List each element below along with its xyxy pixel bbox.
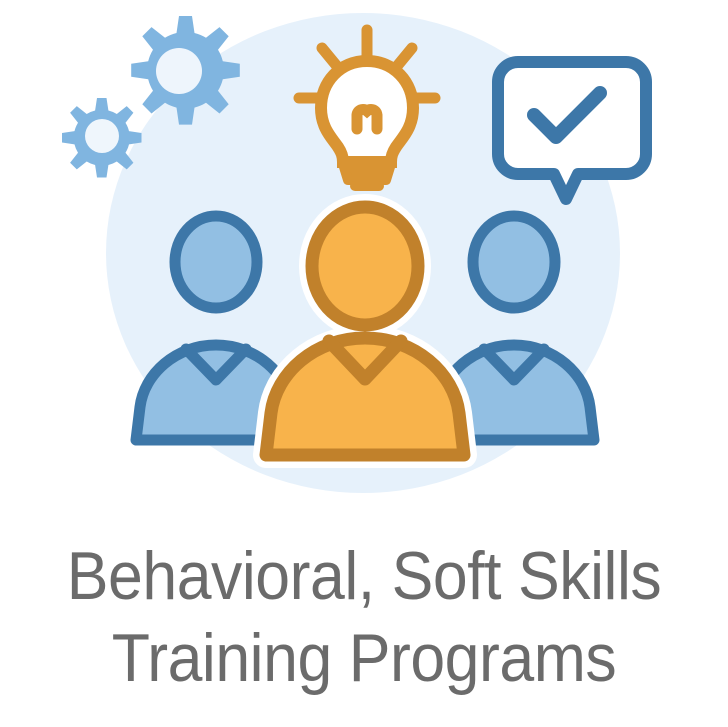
gear-large-icon: [131, 16, 240, 125]
caption-block: Behavioral, Soft Skills Training Program…: [0, 535, 728, 699]
person-center-head: [312, 207, 418, 325]
gear-small-icon: [62, 98, 142, 177]
caption-line-1: Behavioral, Soft Skills: [29, 535, 699, 617]
page-root: Behavioral, Soft Skills Training Program…: [0, 0, 728, 727]
team-collaboration-illustration: [0, 0, 728, 520]
speech-bubble-check-icon: [498, 62, 646, 199]
bulb-base: [344, 167, 390, 180]
person-left-head: [175, 216, 257, 308]
person-right-head: [473, 216, 555, 308]
caption-line-2: Training Programs: [29, 617, 699, 699]
